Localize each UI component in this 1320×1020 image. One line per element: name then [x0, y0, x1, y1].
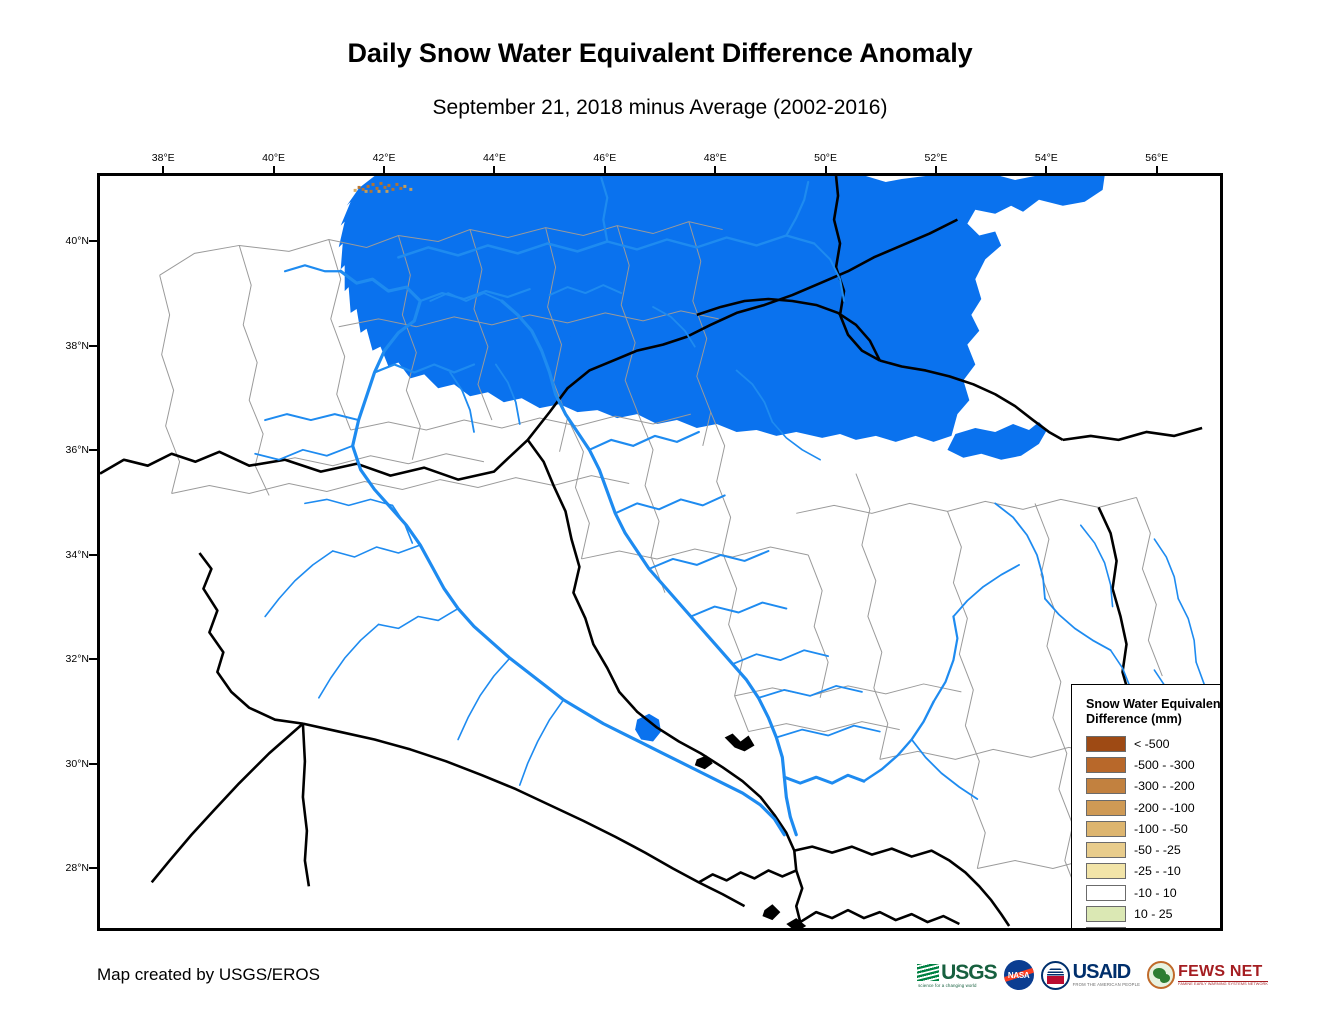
legend-label: -500 - -300: [1134, 758, 1195, 772]
map-canvas-frame[interactable]: Snow Water Equivalent Difference (mm) < …: [97, 173, 1223, 931]
latitude-label: 38°N: [39, 340, 89, 352]
legend-swatch: [1086, 842, 1126, 858]
latitude-tick: [89, 763, 97, 765]
map-legend: Snow Water Equivalent Difference (mm) < …: [1071, 684, 1223, 931]
legend-swatch: [1086, 778, 1126, 794]
legend-row: 10 - 25: [1086, 903, 1223, 924]
map-credit: Map created by USGS/EROS: [97, 965, 320, 985]
legend-row: 25 - 50: [1086, 925, 1223, 931]
usaid-logo-text: USAID: [1073, 963, 1141, 982]
nasa-logo-text: NASA: [1008, 971, 1029, 980]
caspian-sea: [339, 176, 1105, 442]
latitude-tick: [89, 240, 97, 242]
longitude-label: 40°E: [262, 152, 285, 164]
legend-class-list: < -500-500 - -300-300 - -200-200 - -100-…: [1086, 733, 1223, 931]
legend-row: -50 - -25: [1086, 839, 1223, 860]
fewsnet-logo[interactable]: FEWS NET FAMINE EARLY WARNING SYSTEMS NE…: [1147, 958, 1268, 992]
legend-label: -10 - 10: [1134, 886, 1177, 900]
latitude-label: 28°N: [39, 862, 89, 874]
legend-row: -200 - -100: [1086, 797, 1223, 818]
usgs-logo[interactable]: USGS science for a changing world: [917, 958, 997, 992]
nasa-meatball-icon: NASA: [1004, 960, 1034, 990]
latitude-tick: [89, 449, 97, 451]
fewsnet-logo-text: FEWS NET: [1178, 964, 1268, 980]
legend-swatch: [1086, 736, 1126, 752]
longitude-tick: [383, 166, 385, 173]
latitude-tick: [89, 867, 97, 869]
latitude-tick: [89, 658, 97, 660]
fewsnet-logo-tagline: FAMINE EARLY WARNING SYSTEMS NETWORK: [1178, 982, 1268, 986]
page-subtitle: September 21, 2018 minus Average (2002-2…: [0, 96, 1320, 120]
legend-swatch: [1086, 800, 1126, 816]
legend-row: -10 - 10: [1086, 882, 1223, 903]
latitude-label: 34°N: [39, 549, 89, 561]
usaid-logo[interactable]: USAID FROM THE AMERICAN PEOPLE: [1041, 958, 1141, 992]
usgs-logo-text: USGS: [941, 963, 997, 982]
longitude-tick: [825, 166, 827, 173]
page-title: Daily Snow Water Equivalent Difference A…: [0, 38, 1320, 69]
nasa-logo[interactable]: NASA: [1004, 958, 1034, 992]
legend-label: 10 - 25: [1134, 907, 1173, 921]
longitude-tick: [273, 166, 275, 173]
longitude-tick: [493, 166, 495, 173]
legend-label: -100 - -50: [1134, 822, 1188, 836]
longitude-label: 48°E: [704, 152, 727, 164]
longitude-label: 42°E: [373, 152, 396, 164]
coastline-detail-layer: [695, 734, 806, 928]
longitude-tick: [1045, 166, 1047, 173]
usaid-logo-tagline: FROM THE AMERICAN PEOPLE: [1073, 982, 1141, 987]
fewsnet-globe-icon: [1147, 961, 1175, 989]
longitude-label: 46°E: [593, 152, 616, 164]
longitude-tick: [935, 166, 937, 173]
map-vector-layer: [100, 176, 1220, 928]
legend-row: -500 - -300: [1086, 754, 1223, 775]
legend-swatch: [1086, 863, 1126, 879]
longitude-label: 56°E: [1145, 152, 1168, 164]
longitude-tick: [714, 166, 716, 173]
legend-label: -200 - -100: [1134, 801, 1195, 815]
longitude-tick: [604, 166, 606, 173]
legend-swatch: [1086, 885, 1126, 901]
usgs-wave-icon: [917, 964, 939, 981]
legend-row: -300 - -200: [1086, 776, 1223, 797]
latitude-label: 30°N: [39, 758, 89, 770]
legend-swatch: [1086, 757, 1126, 773]
legend-label: -300 - -200: [1134, 779, 1195, 793]
longitude-tick: [1156, 166, 1158, 173]
usgs-logo-tagline: science for a changing world: [918, 983, 976, 988]
legend-swatch: [1086, 927, 1126, 931]
latitude-label: 36°N: [39, 444, 89, 456]
caspian-sea-southeast-lobe: [947, 422, 1046, 460]
agency-logo-bar: USGS science for a changing world NASA U…: [917, 958, 1268, 992]
legend-title: Snow Water Equivalent Difference (mm): [1086, 697, 1223, 727]
legend-label: -25 - -10: [1134, 864, 1181, 878]
latitude-label: 40°N: [39, 235, 89, 247]
latitude-label: 32°N: [39, 653, 89, 665]
usaid-seal-icon: [1041, 961, 1070, 990]
longitude-label: 54°E: [1035, 152, 1058, 164]
latitude-tick: [89, 554, 97, 556]
latitude-tick: [89, 345, 97, 347]
legend-label: < -500: [1134, 737, 1169, 751]
legend-label: -50 - -25: [1134, 843, 1181, 857]
legend-label: 25 - 50: [1134, 928, 1173, 931]
longitude-label: 52°E: [925, 152, 948, 164]
legend-row: -100 - -50: [1086, 818, 1223, 839]
longitude-tick: [162, 166, 164, 173]
longitude-label: 50°E: [814, 152, 837, 164]
legend-row: -25 - -10: [1086, 861, 1223, 882]
legend-swatch: [1086, 906, 1126, 922]
legend-row: < -500: [1086, 733, 1223, 754]
longitude-label: 38°E: [152, 152, 175, 164]
longitude-label: 44°E: [483, 152, 506, 164]
legend-swatch: [1086, 821, 1126, 837]
